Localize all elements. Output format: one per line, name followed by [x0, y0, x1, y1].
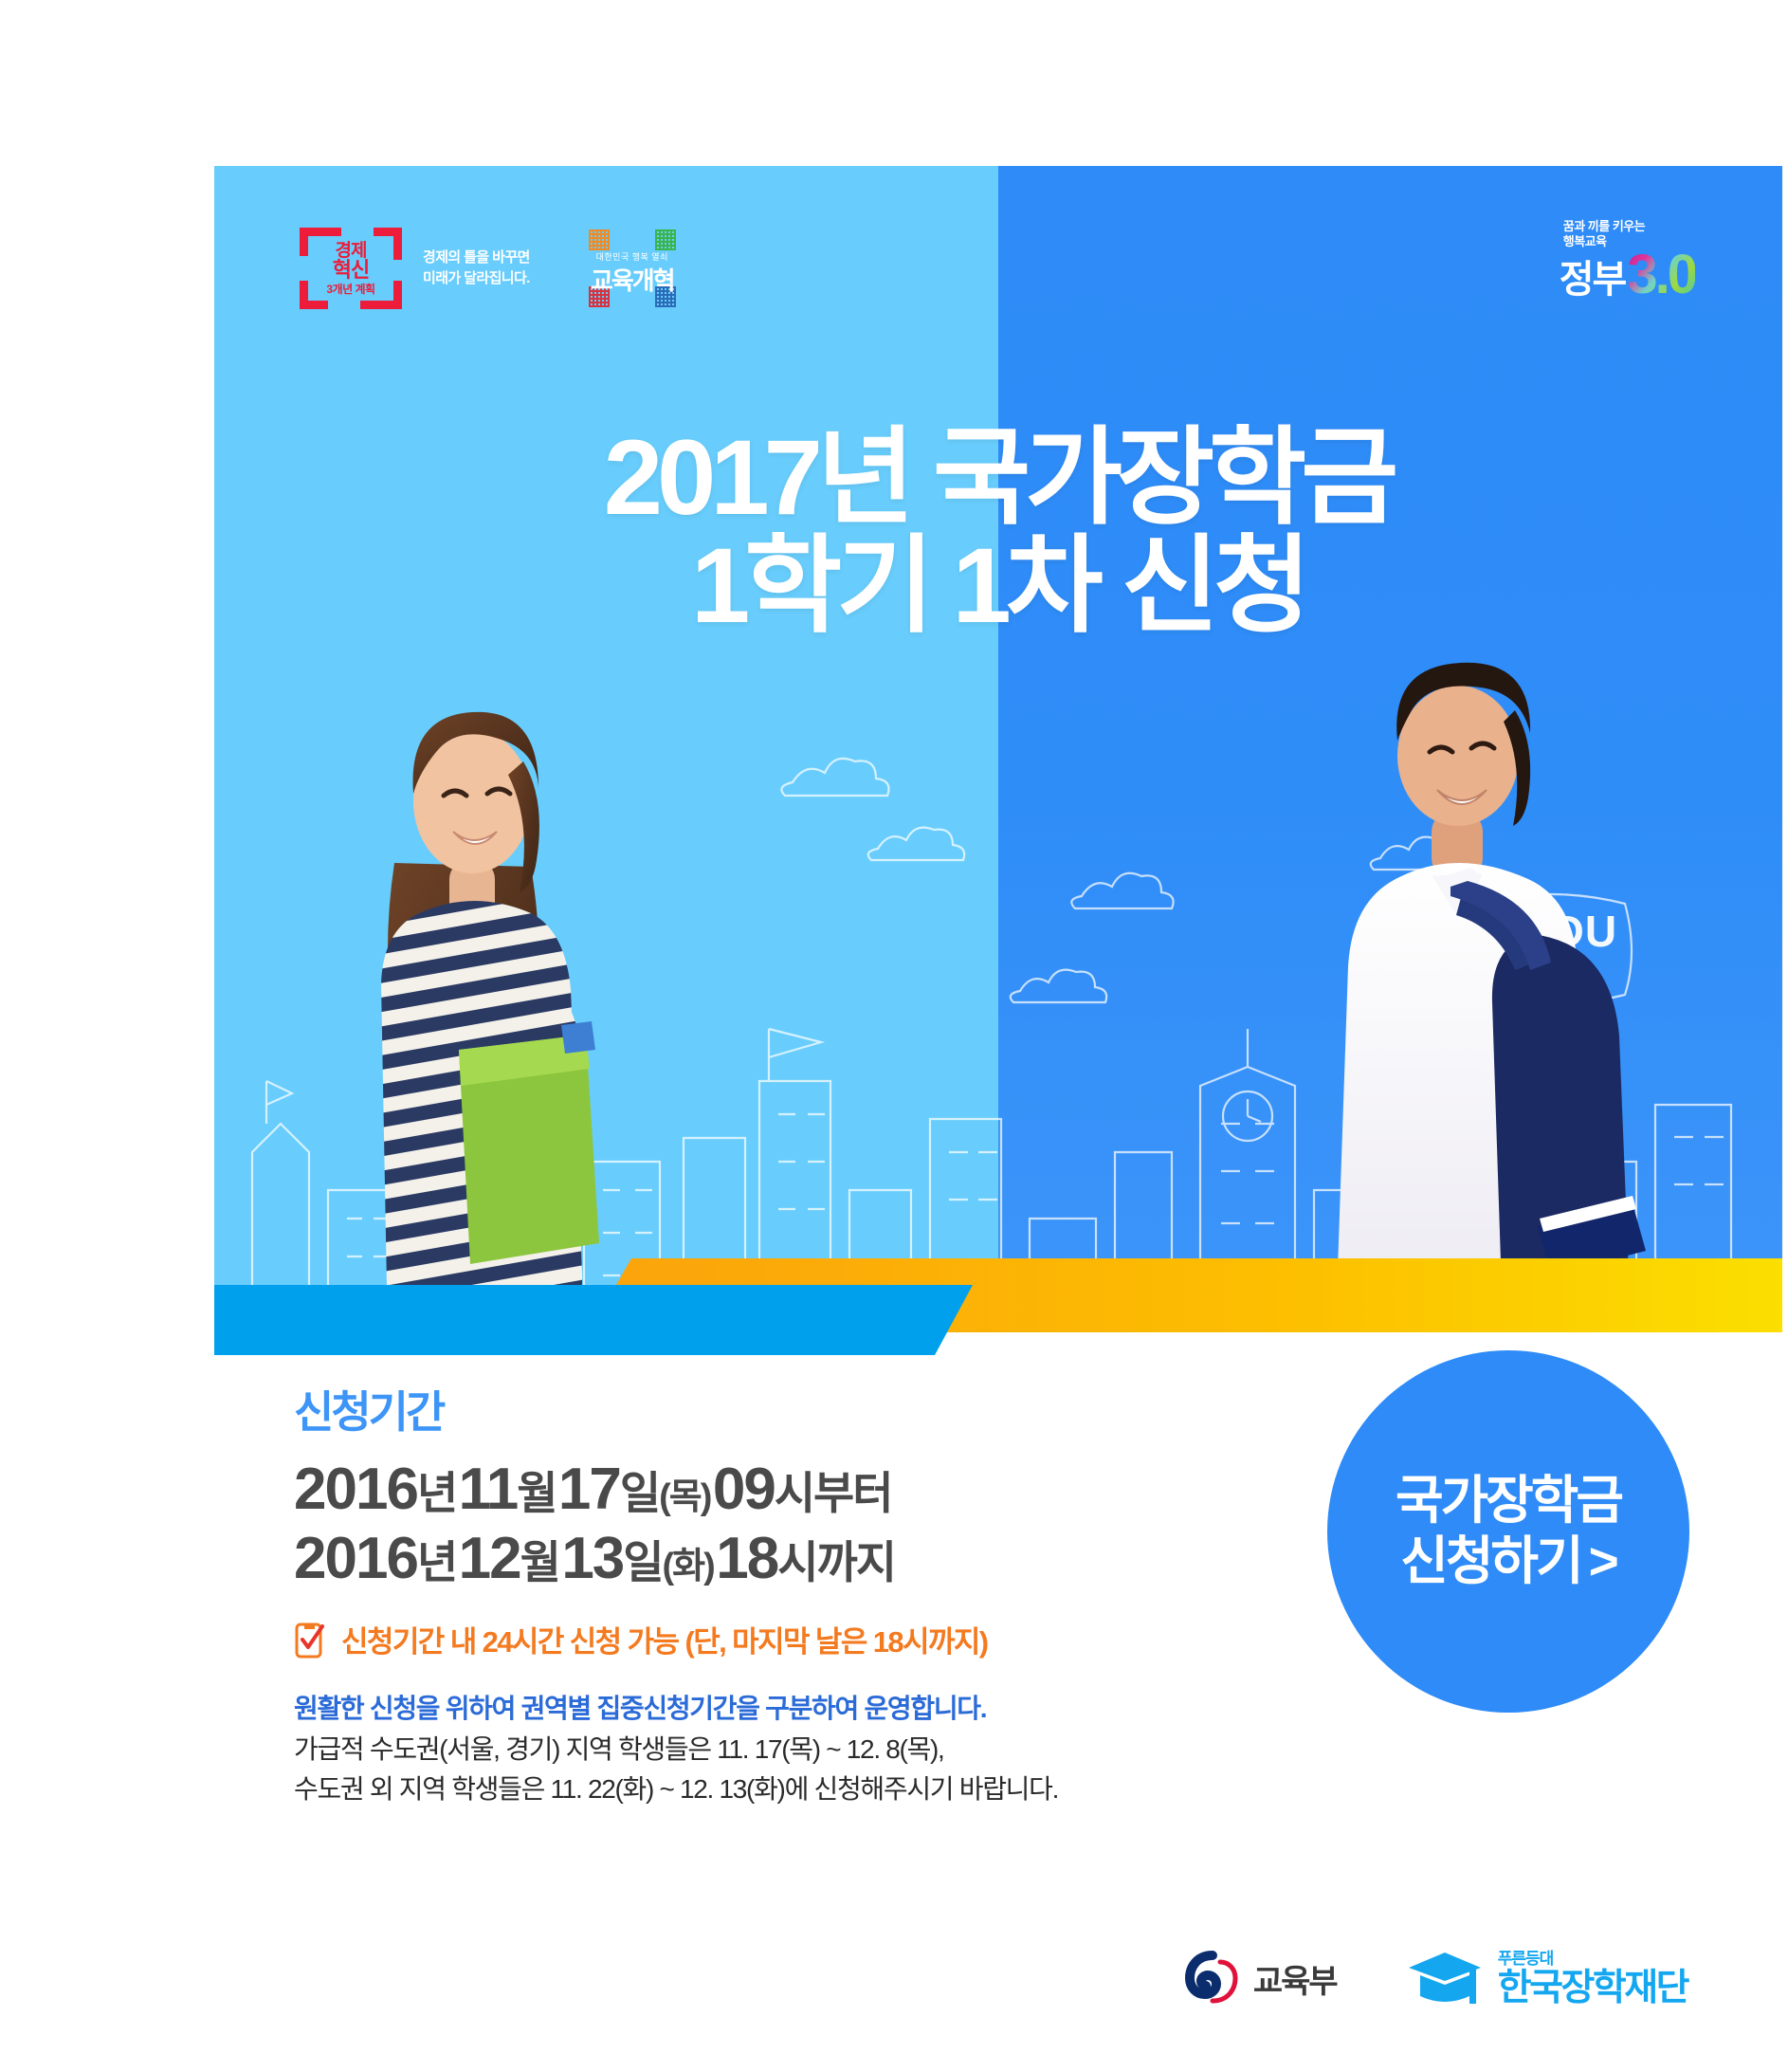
start-year-unit: 년: [417, 1468, 456, 1518]
economy-slogan-line2: 미래가 달라집니다.: [423, 268, 530, 289]
end-hour: 18: [716, 1526, 777, 1591]
end-hour-unit: 시까지: [777, 1537, 895, 1587]
start-hour: 09: [713, 1457, 775, 1522]
cta-line2: 신청하기: [1400, 1531, 1580, 1592]
period-end-line: 2016년 12월 13일(화) 18시까지: [294, 1524, 1289, 1593]
guidance-line-1: 원활한 신청을 위하여 권역별 집중신청기간을 구분하여 운영합니다.: [294, 1689, 1289, 1730]
start-year: 2016: [294, 1457, 417, 1522]
gov-logo-word: 정부: [1560, 262, 1626, 298]
edu-logo-title: 교육개혁: [591, 262, 674, 297]
economy-logo-line2: 혁신: [326, 260, 374, 281]
kosaf-slogan: 푸른등대: [1498, 1951, 1688, 1967]
start-day: 17: [558, 1457, 620, 1522]
taegeuk-icon: [1185, 1951, 1240, 2006]
end-weekday: (화): [663, 1547, 714, 1586]
hero-bottom-blue-band: [214, 1285, 973, 1355]
start-day-unit: 일: [620, 1468, 659, 1518]
application-info-block: 신청기간 2016년 11월 17일(목) 09시부터 2016년 12월 13…: [294, 1390, 1289, 1810]
poster-title-line2: 1학기 1차 신청: [214, 532, 1782, 640]
period-start-line: 2016년 11월 17일(목) 09시부터: [294, 1455, 1289, 1524]
economy-innovation-logo: 경제 혁신 3개년 계획 경제의 틀을 바꾸면 미래가 달라집니다.: [300, 228, 530, 309]
gov-logo-version: 3.0: [1627, 251, 1695, 298]
gov-logo-main: 정부 3.0: [1560, 251, 1695, 298]
student-photo-male: [1289, 650, 1650, 1332]
economy-slogan-line1: 경제의 틀을 바꾸면: [423, 248, 530, 268]
cta-line2-wrap: 신청하기 >: [1400, 1531, 1616, 1592]
hero-logo-row: 경제 혁신 3개년 계획 경제의 틀을 바꾸면 미래가 달라집니다. 대한민국 …: [300, 228, 678, 309]
availability-note: 신청기간 내 24시간 신청 가능 (단, 마지막 날은 18시까지): [294, 1618, 1289, 1660]
graduation-cap-icon: [1405, 1949, 1487, 2008]
start-hour-unit: 시부터: [775, 1468, 892, 1518]
student-photo-female: [338, 688, 650, 1332]
education-reform-logo: 대한민국 행복 열쇠 교육개혁: [587, 228, 678, 309]
application-period-dates: 2016년 11월 17일(목) 09시부터 2016년 12월 13일(화) …: [294, 1455, 1289, 1593]
poster-title-line1: 2017년 국가장학금: [214, 424, 1782, 532]
start-month: 11: [459, 1457, 518, 1522]
economy-logo-line3: 3개년 계획: [326, 284, 374, 295]
checklist-icon: [294, 1620, 326, 1659]
end-year: 2016: [294, 1526, 417, 1591]
application-period-heading: 신청기간: [294, 1390, 1289, 1434]
kosaf-logo: 푸른등대 한국장학재단: [1405, 1949, 1688, 2008]
end-day-unit: 일: [623, 1537, 662, 1587]
poster-title: 2017년 국가장학금 1학기 1차 신청: [214, 424, 1782, 640]
end-day: 13: [561, 1526, 623, 1591]
start-weekday: (목): [659, 1477, 710, 1517]
edu-logo-square-orange: [589, 229, 610, 250]
ministry-of-education-logo: 교육부: [1185, 1951, 1337, 2006]
hero-banner: EDU 경제 혁신 3개년 계획 경제의 틀을 바꾸면 미래가 달라집니다.: [214, 166, 1782, 1332]
chevron-right-icon: >: [1589, 1531, 1616, 1592]
guidance-line-2: 가급적 수도권(서울, 경기) 지역 학생들은 11. 17(목) ~ 12. …: [294, 1730, 1289, 1770]
start-month-unit: 월: [517, 1468, 556, 1518]
cta-line1: 국가장학금: [1396, 1471, 1621, 1531]
footer-logo-row: 교육부 푸른등대 한국장학재단: [0, 1949, 1788, 2008]
economy-bracket-mark: 경제 혁신 3개년 계획: [300, 228, 402, 309]
economy-slogan: 경제의 틀을 바꾸면 미래가 달라집니다.: [423, 248, 530, 289]
availability-note-text: 신청기간 내 24시간 신청 가능 (단, 마지막 날은 18시까지): [341, 1618, 988, 1660]
government-30-logo: 꿈과 끼를 키우는 행복교육 정부 3.0: [1560, 219, 1695, 298]
end-year-unit: 년: [417, 1537, 456, 1587]
end-month-unit: 월: [520, 1537, 559, 1587]
kosaf-name: 한국장학재단: [1498, 1970, 1688, 2007]
ministry-of-education-label: 교육부: [1253, 1955, 1337, 2002]
apply-scholarship-button[interactable]: 국가장학금 신청하기 >: [1327, 1350, 1689, 1713]
guidance-line-3: 수도권 외 지역 학생들은 11. 22(화) ~ 12. 13(화)에 신청해…: [294, 1769, 1289, 1810]
edu-logo-square-green: [655, 229, 676, 250]
kosaf-wordmark: 푸른등대 한국장학재단: [1498, 1951, 1688, 2007]
regional-guidance-paragraph: 원활한 신청을 위하여 권역별 집중신청기간을 구분하여 운영합니다. 가급적 …: [294, 1689, 1289, 1810]
gov-tagline-line1: 꿈과 끼를 키우는: [1563, 219, 1695, 234]
end-month: 12: [459, 1526, 520, 1591]
